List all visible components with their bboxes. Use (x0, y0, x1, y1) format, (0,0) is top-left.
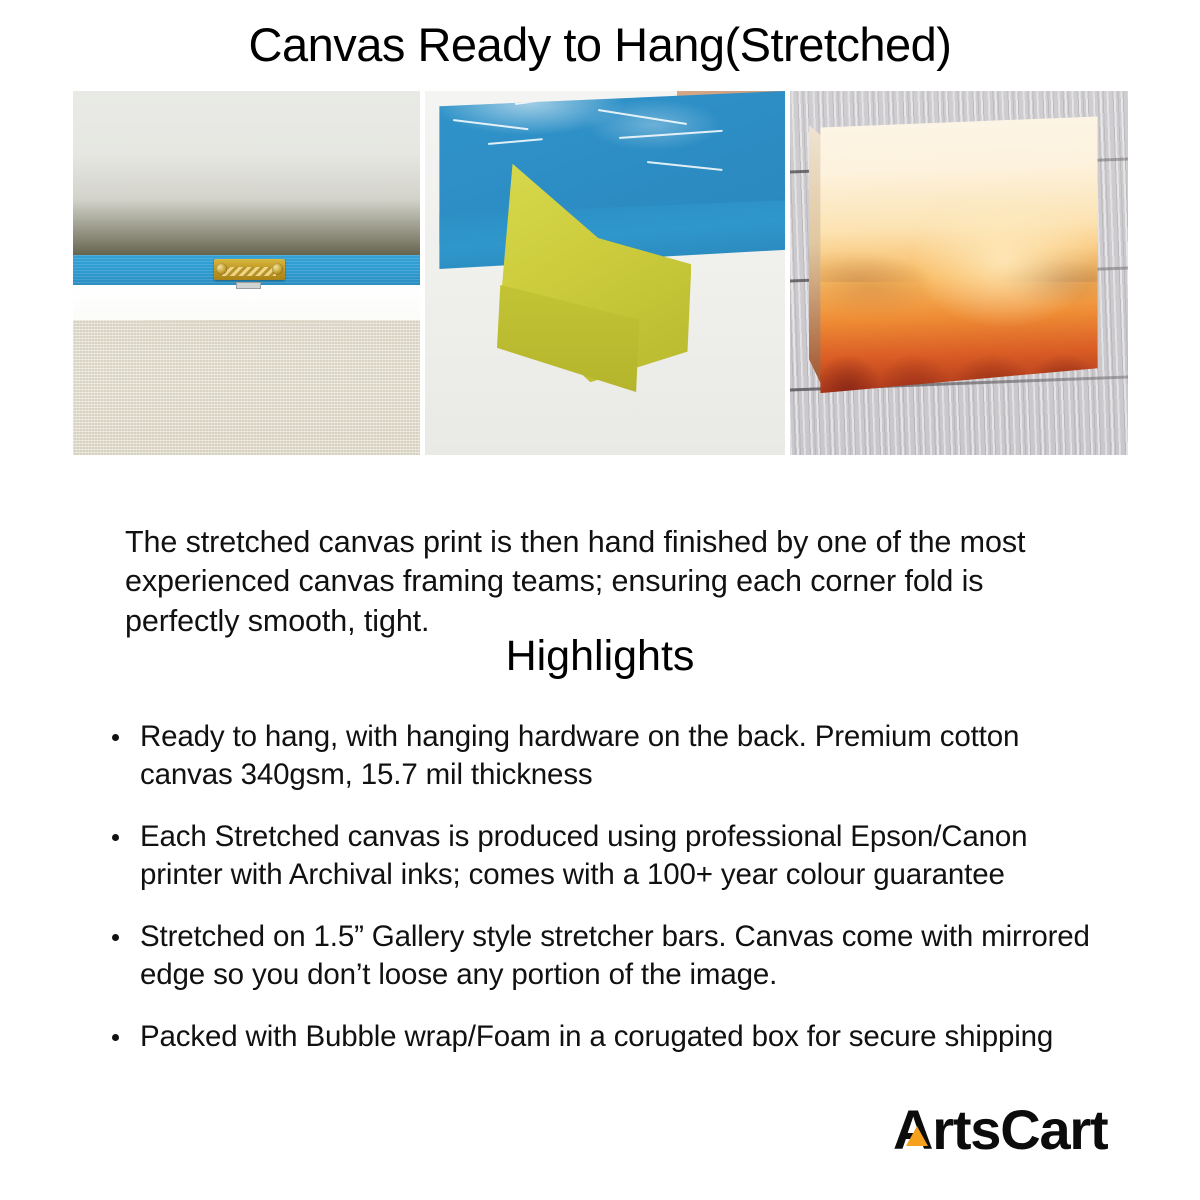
photo-canvas-edge-highlight (73, 320, 420, 324)
photo-canvas-wrapped-side-edge (809, 125, 822, 391)
sawtooth-hanger-hardware (214, 259, 285, 279)
list-item-label: Each Stretched canvas is produced using … (140, 820, 1027, 891)
highlights-list: Ready to hang, with hanging hardware on … (106, 718, 1116, 1056)
wave-line (598, 109, 687, 125)
brand-logo: ArtsCart (893, 1099, 1107, 1161)
list-item: Each Stretched canvas is produced using … (106, 818, 1116, 894)
bullet-dot-icon (112, 834, 119, 841)
page-title: Canvas Ready to Hang(Stretched) (0, 17, 1200, 73)
highlights-heading: Highlights (0, 630, 1200, 682)
wave-line (453, 119, 529, 130)
wave-line (647, 161, 723, 171)
hanger-screw-right (272, 264, 283, 275)
hanger-screw-left (216, 264, 227, 275)
wave-line (619, 130, 723, 139)
photo-sunset-landscape-canvas (820, 116, 1097, 393)
list-item-label: Stretched on 1.5” Gallery style stretche… (140, 920, 1090, 991)
product-image-canvas-back-hanging-hardware (73, 91, 420, 455)
list-item: Packed with Bubble wrap/Foam in a coruga… (106, 1018, 1116, 1056)
intro-paragraph: The stretched canvas print is then hand … (125, 523, 1075, 642)
list-item-label: Packed with Bubble wrap/Foam in a coruga… (140, 1020, 1053, 1053)
photo-wall-background (73, 91, 420, 255)
photo-landscape-hills (820, 244, 1097, 283)
product-image-gallery-wrap-on-wall (790, 91, 1128, 455)
logo-triangle-icon (906, 1126, 928, 1146)
list-item-label: Ready to hang, with hanging hardware on … (140, 720, 1019, 791)
product-image-canvas-corner-fold (425, 91, 785, 455)
bullet-dot-icon (112, 934, 119, 941)
bullet-dot-icon (112, 734, 119, 741)
photo-canvas-surface (73, 320, 420, 455)
list-item: Stretched on 1.5” Gallery style stretche… (106, 918, 1116, 994)
photo-canvas-white-band (73, 285, 420, 325)
hanger-metal-tab (236, 282, 261, 289)
bullet-dot-icon (112, 1034, 119, 1041)
wave-line (488, 138, 543, 145)
product-image-gallery (73, 91, 1128, 455)
list-item: Ready to hang, with hanging hardware on … (106, 718, 1116, 794)
